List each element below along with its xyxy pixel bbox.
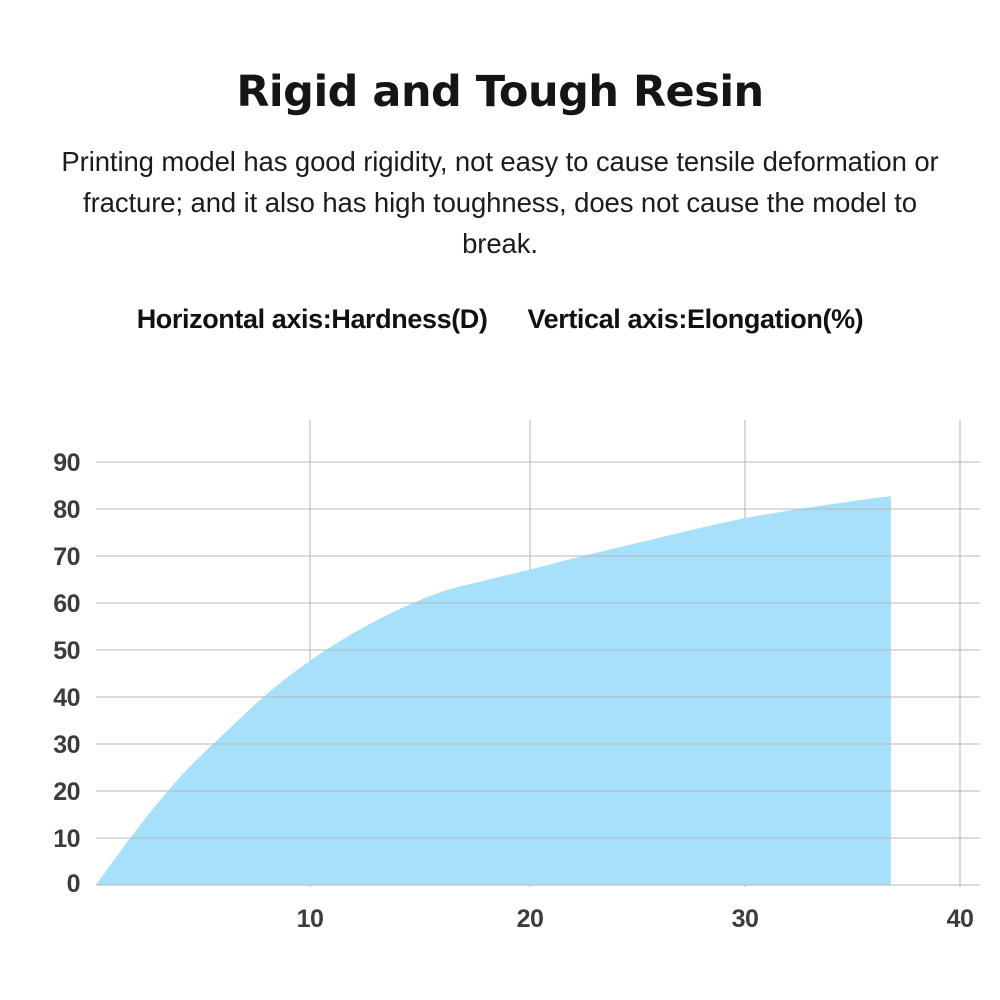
xtick-30: 30	[732, 905, 759, 933]
ytick-60: 60	[53, 590, 80, 618]
xtick-10: 10	[297, 905, 324, 933]
page-title: Rigid and Tough Resin	[0, 0, 1000, 117]
axis-note-row: Horizontal axis:Hardness(D) Vertical axi…	[40, 264, 960, 335]
y-axis-tick-labels: 90 80 70 60 50 40 30 20 10 0	[53, 449, 80, 898]
ytick-70: 70	[53, 543, 80, 571]
xtick-40: 40	[947, 905, 974, 933]
ytick-80: 80	[53, 496, 80, 524]
ytick-40: 40	[53, 684, 80, 712]
axis-note-horizontal: Horizontal axis:Hardness(D)	[137, 304, 488, 335]
x-axis-tick-labels: 10 20 30 40	[297, 905, 974, 933]
ytick-20: 20	[53, 778, 80, 806]
area-series-fill	[96, 496, 891, 885]
elongation-hardness-area-chart: 90 80 70 60 50 40 30 20 10 0 10 20 30 40	[0, 400, 1000, 960]
infographic-page: Rigid and Tough Resin Printing model has…	[0, 0, 1000, 1000]
page-subtitle: Printing model has good rigidity, not ea…	[60, 117, 940, 264]
chart-container: 90 80 70 60 50 40 30 20 10 0 10 20 30 40	[0, 400, 1000, 960]
axis-note-vertical: Vertical axis:Elongation(%)	[527, 304, 863, 335]
ytick-90: 90	[53, 449, 80, 477]
ytick-50: 50	[53, 637, 80, 665]
ytick-10: 10	[53, 825, 80, 853]
ytick-0: 0	[67, 870, 80, 898]
ytick-30: 30	[53, 731, 80, 759]
header-block: Rigid and Tough Resin Printing model has…	[0, 0, 1000, 335]
xtick-20: 20	[517, 905, 544, 933]
